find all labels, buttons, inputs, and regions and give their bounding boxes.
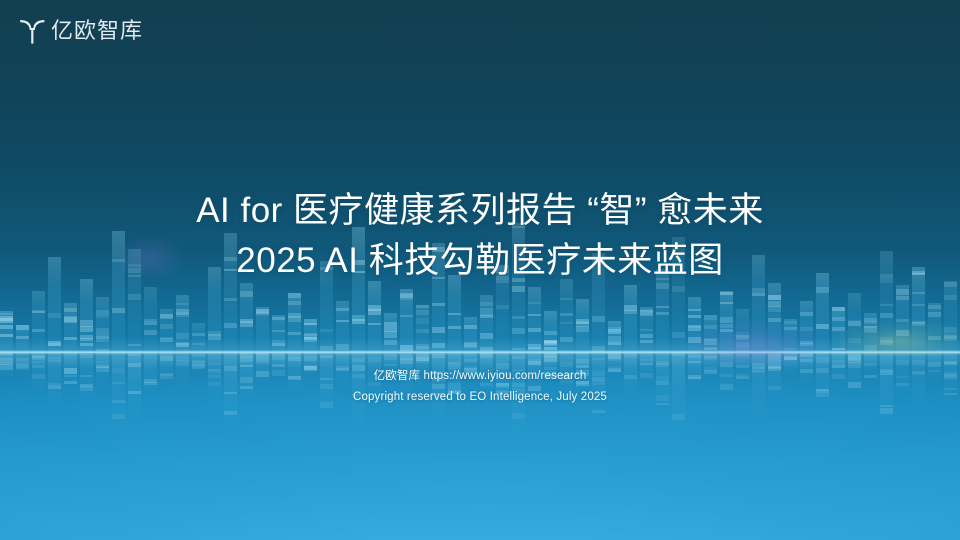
title-slide: 亿欧智库 AI for 医疗健康系列报告 “智” 愈未来 2025 AI 科技勾…: [0, 0, 960, 540]
title-line-2: 2025 AI 科技勾勒医疗未来蓝图: [0, 236, 960, 286]
brand-logo: 亿欧智库: [18, 16, 143, 46]
footer-block: 亿欧智库 https://www.iyiou.com/research Copy…: [0, 366, 960, 409]
footer-source-url: 亿欧智库 https://www.iyiou.com/research: [0, 366, 960, 387]
title-line-1: AI for 医疗健康系列报告 “智” 愈未来: [0, 186, 960, 236]
footer-copyright: Copyright reserved to EO Intelligence, J…: [0, 387, 960, 408]
brand-logo-text: 亿欧智库: [51, 20, 143, 42]
y-tree-logo-icon: [18, 16, 46, 46]
title-block: AI for 医疗健康系列报告 “智” 愈未来 2025 AI 科技勾勒医疗未来…: [0, 186, 960, 285]
